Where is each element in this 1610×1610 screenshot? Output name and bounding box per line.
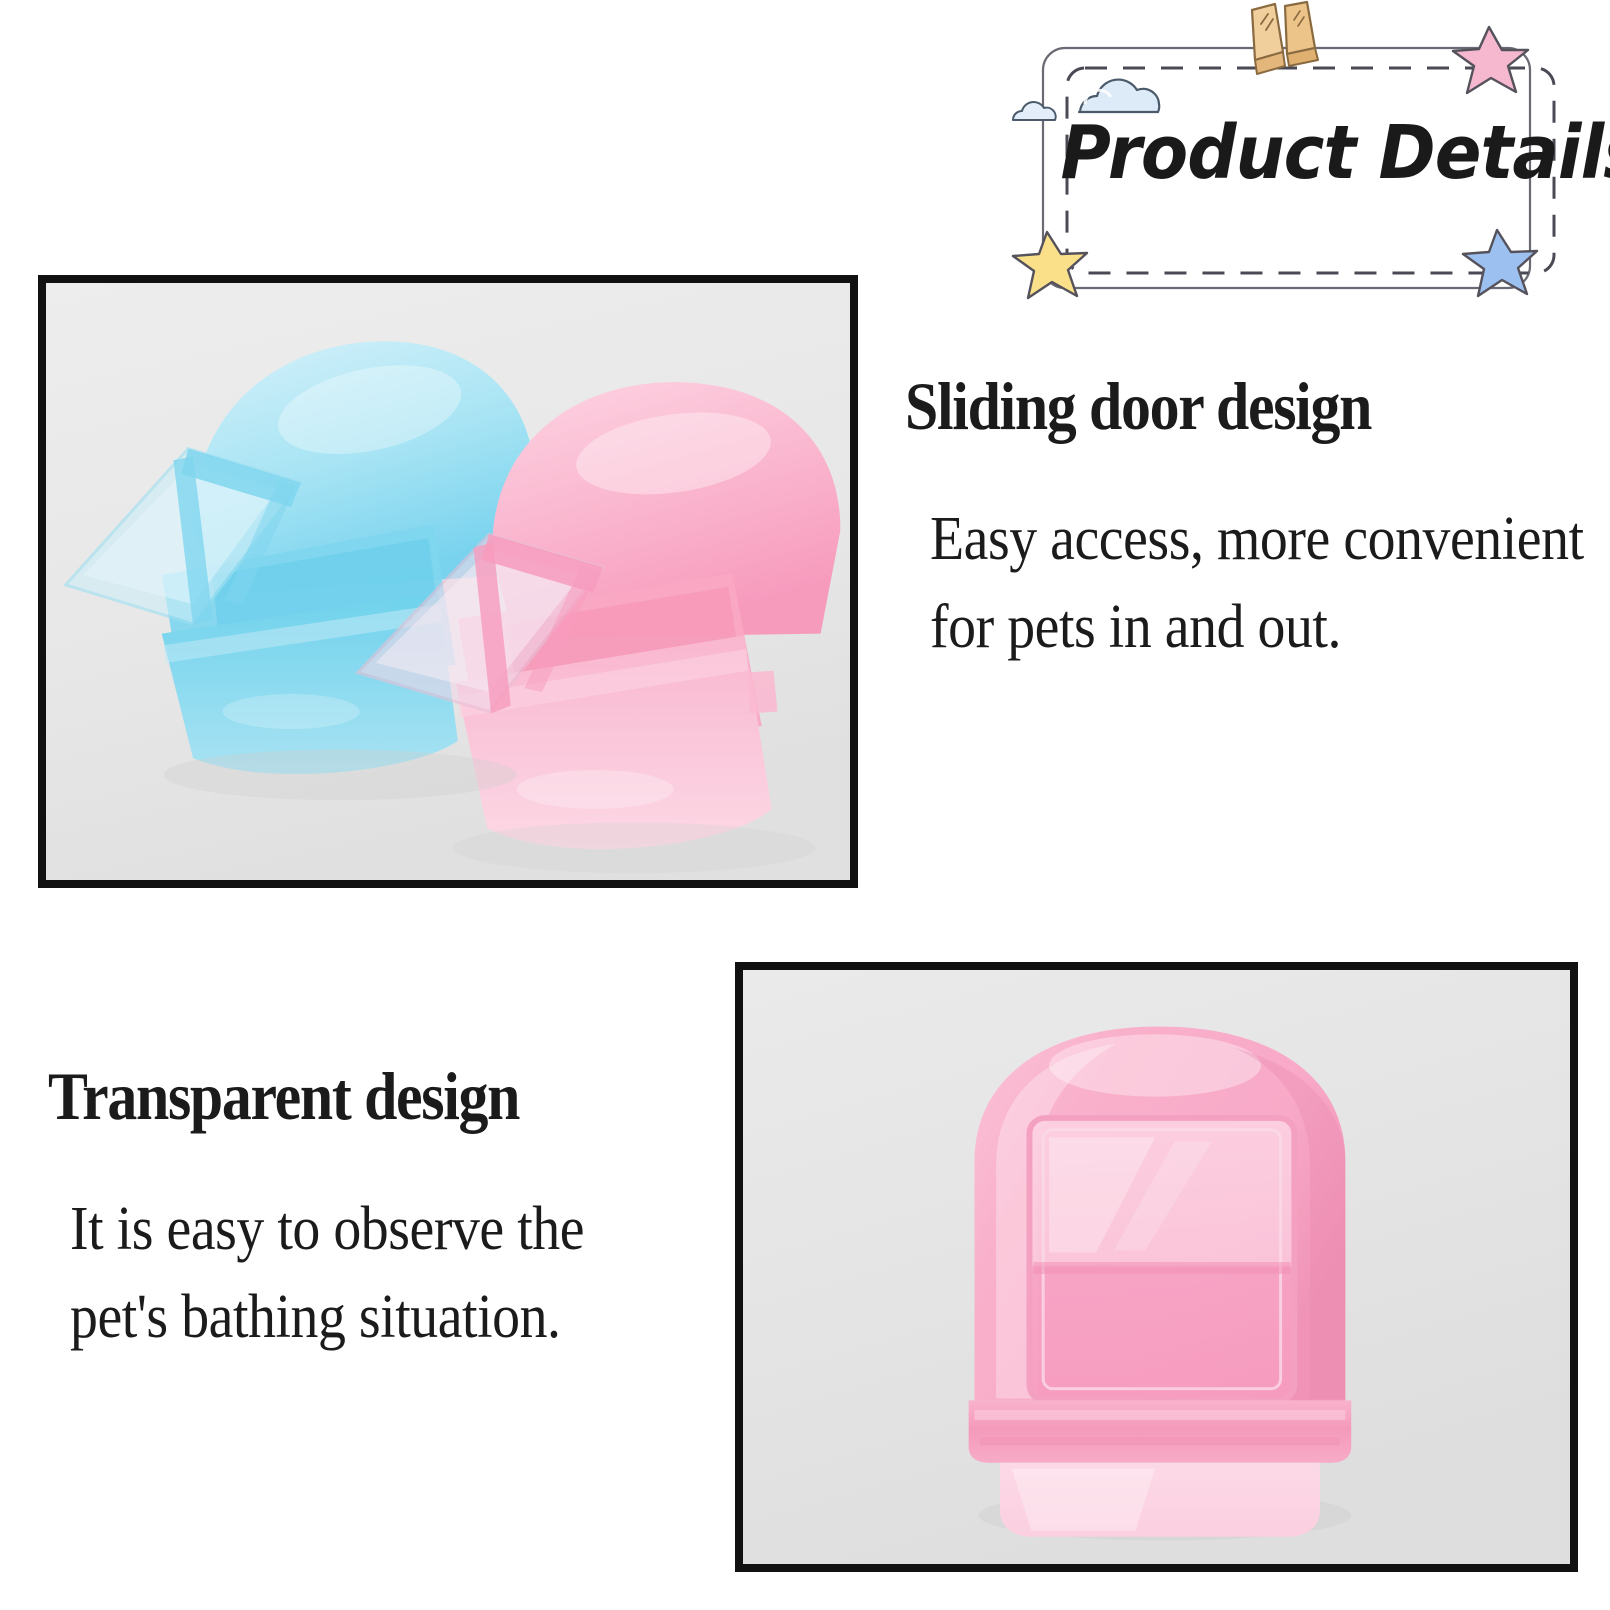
product-details-page: Product Details [0, 0, 1610, 1610]
star-pink-icon [1453, 27, 1528, 93]
feature-heading-transparent-design: Transparent design [48, 1062, 519, 1131]
transparent-sliding-door [1029, 1118, 1294, 1400]
star-blue-icon [1463, 230, 1537, 296]
photo-illustration-two-bath-houses [46, 283, 850, 880]
page-title: Product Details [1061, 108, 1526, 198]
header-banner: Product Details [985, 0, 1610, 310]
feature-body-sliding-door: Easy access, more convenient for pets in… [930, 495, 1587, 671]
feature-body-transparent-design: It is easy to observe the pet's bathing … [70, 1185, 655, 1361]
product-photo-pink-bath-house-front [735, 962, 1578, 1572]
pink-bath-house-front [969, 1026, 1352, 1536]
feature-heading-sliding-door: Sliding door design [905, 372, 1371, 441]
tape-clip-icon [1252, 2, 1318, 74]
cloud-small-icon [1013, 102, 1056, 120]
product-photo-two-bath-houses [38, 275, 858, 888]
photo-illustration-pink-front [743, 970, 1570, 1564]
